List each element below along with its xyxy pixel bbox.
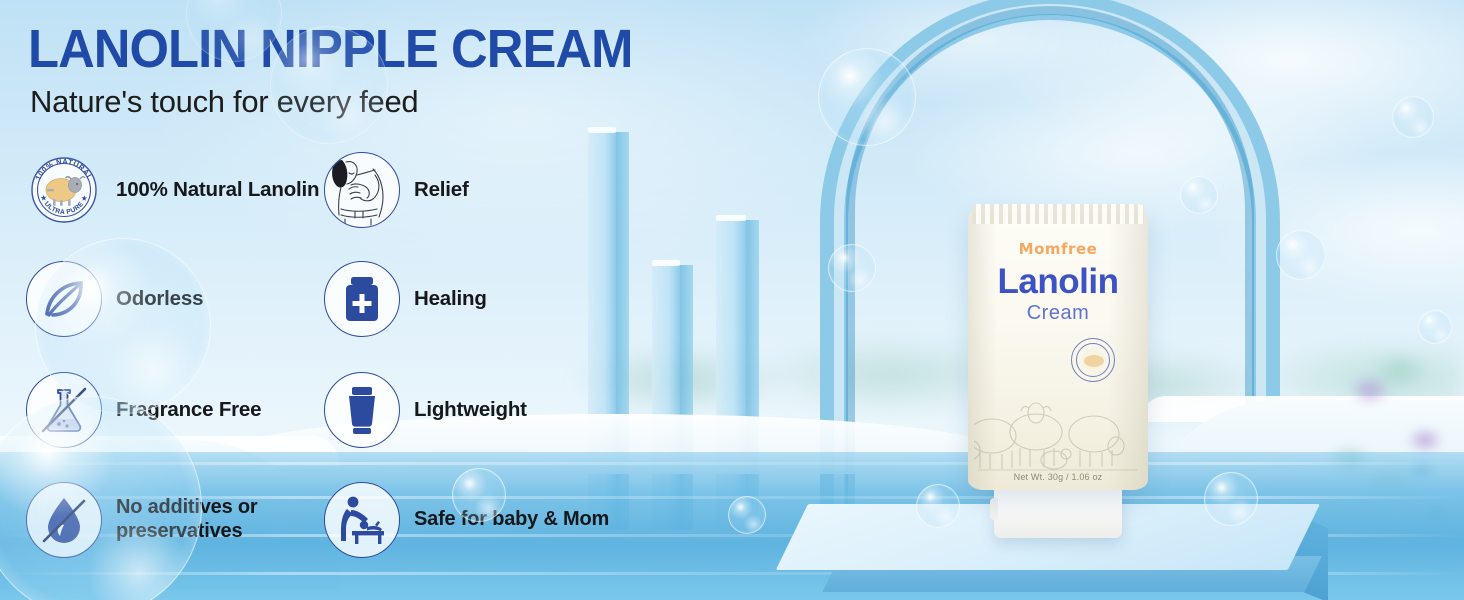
feature-label: No additives or preservatives <box>116 496 326 543</box>
seal-sheep <box>1084 355 1104 367</box>
pillar-cap <box>588 127 616 133</box>
feature-label: Odorless <box>116 287 203 311</box>
tube-natural-seal-icon <box>1071 338 1115 382</box>
feature-label: Fragrance Free <box>116 398 261 422</box>
feature-item-odorless[interactable]: Odorless <box>26 261 326 337</box>
no-flask-icon <box>26 372 102 448</box>
feature-label: Relief <box>414 178 469 202</box>
page-subtitle: Nature's touch for every feed <box>30 84 418 120</box>
medicine-bottle-icon <box>324 261 400 337</box>
tube-cap <box>994 482 1122 538</box>
feature-item-safe-baby-mom[interactable]: Safe for baby & Mom <box>324 482 624 558</box>
product-brand: Momfree <box>968 240 1148 258</box>
natural-seal-icon: 100% NATURAL ★ ULTRA PURE ★ <box>26 152 102 228</box>
tube-crimp-seal <box>972 204 1144 224</box>
page-title: LANOLIN NIPPLE CREAM <box>28 18 632 80</box>
feature-label: Lightweight <box>414 398 527 422</box>
cream-tube-icon <box>324 372 400 448</box>
feature-item-healing[interactable]: Healing <box>324 261 624 337</box>
product-tube[interactable]: Momfree Lanolin Cream <box>968 196 1148 526</box>
water-ripple <box>0 462 1464 465</box>
woman-relief-icon <box>324 152 400 228</box>
pillar-cap <box>716 215 746 221</box>
sheep-flock-illustration <box>974 396 1142 474</box>
no-droplet-icon <box>26 482 102 558</box>
product-title: Lanolin <box>968 262 1148 302</box>
feature-item-lightweight[interactable]: Lightweight <box>324 372 624 448</box>
feature-item-natural-lanolin[interactable]: 100% NATURAL ★ ULTRA PURE ★ 100% Natural… <box>26 152 326 228</box>
feature-item-relief[interactable]: Relief <box>324 152 624 228</box>
feature-label: Healing <box>414 287 487 311</box>
feature-item-no-additives[interactable]: No additives or preservatives <box>26 482 326 558</box>
product-subtitle: Cream <box>968 302 1148 325</box>
feature-label: Safe for baby & Mom <box>414 508 609 532</box>
product-net-weight: Net Wt. 30g / 1.06 oz <box>968 472 1148 482</box>
pillar-cap <box>652 260 680 266</box>
leaf-icon <box>26 261 102 337</box>
feature-label: 100% Natural Lanolin <box>116 178 319 202</box>
baby-changing-icon <box>324 482 400 558</box>
feature-item-fragrance-free[interactable]: Fragrance Free <box>26 372 326 448</box>
product-banner: Momfree Lanolin Cream <box>0 0 1464 600</box>
